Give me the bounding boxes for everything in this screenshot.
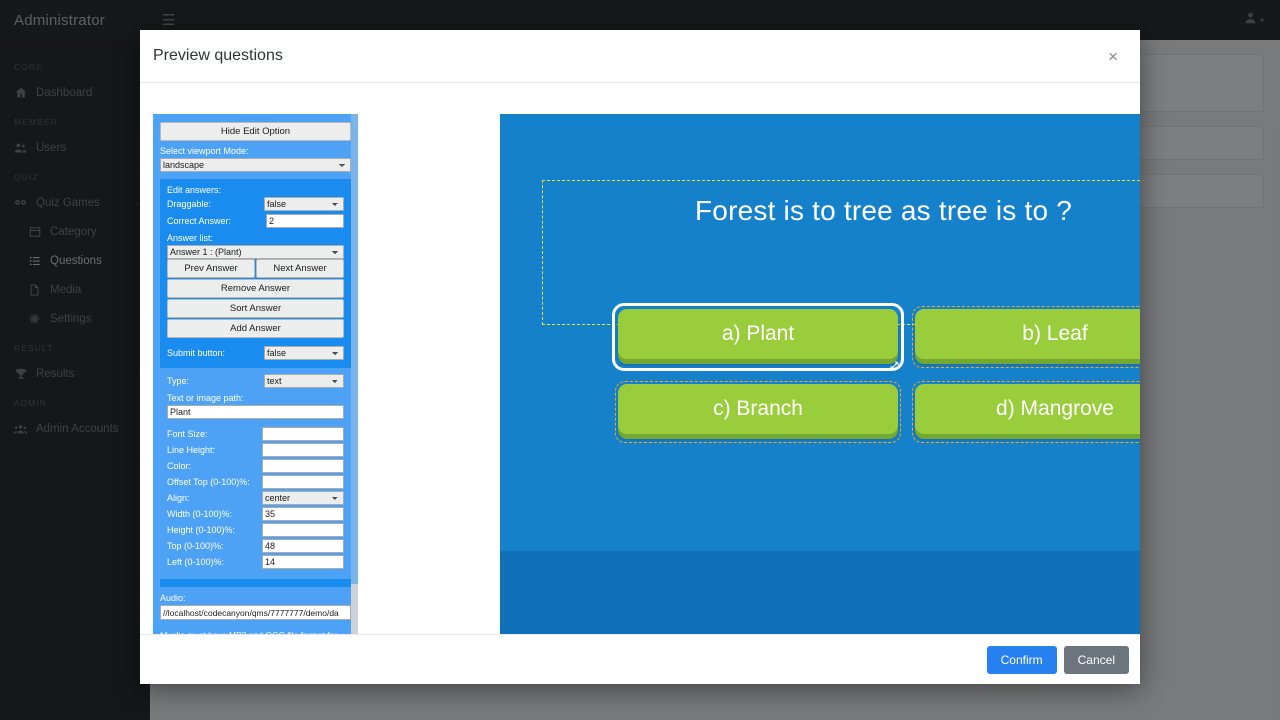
- resize-handle-icon[interactable]: [890, 361, 899, 370]
- correct-answer-label: Correct Answer:: [167, 216, 231, 226]
- type-label: Type:: [167, 376, 189, 386]
- answer-option-label: a) Plant: [722, 322, 794, 346]
- preview-questions-modal: Preview questions × Hide Edit Option Sel…: [140, 30, 1140, 684]
- attribute-label: Left (0-100)%:: [167, 557, 224, 567]
- answer-option[interactable]: d) Mangrove: [915, 384, 1140, 434]
- align-input[interactable]: center: [262, 491, 344, 505]
- cancel-button[interactable]: Cancel: [1064, 646, 1129, 674]
- left-0-100-input[interactable]: [262, 555, 344, 569]
- attribute-label: Width (0-100)%:: [167, 509, 232, 519]
- edit-panel: Hide Edit Option Select viewport Mode: l…: [153, 114, 358, 634]
- attribute-label: Color:: [167, 461, 191, 471]
- confirm-button[interactable]: Confirm: [987, 646, 1057, 674]
- draggable-label: Draggable:: [167, 199, 211, 209]
- correct-answer-row: Correct Answer:: [167, 214, 344, 228]
- prev-answer-button[interactable]: Prev Answer: [167, 259, 255, 278]
- answer-nav-row: Prev Answer Next Answer: [167, 259, 344, 278]
- audio-format-note: *Audio must have MP3 and OGG file format…: [160, 629, 351, 634]
- attribute-row: Top (0-100)%:: [167, 539, 344, 553]
- answer-list-select[interactable]: Answer 1 : (Plant): [167, 245, 344, 259]
- submit-button-row: Submit button: false: [167, 346, 344, 360]
- type-select[interactable]: text: [264, 374, 344, 388]
- draggable-select[interactable]: false: [264, 197, 344, 211]
- answer-list-label: Answer list:: [167, 233, 344, 243]
- audio-label: Audio:: [160, 593, 351, 603]
- attribute-row: Width (0-100)%:: [167, 507, 344, 521]
- attribute-row: Align:center: [167, 491, 344, 505]
- viewport-mode-label: Select viewport Mode:: [160, 146, 351, 156]
- stage-lower-band: [500, 551, 1140, 634]
- attribute-label: Font Size:: [167, 429, 208, 439]
- answer-option[interactable]: a) Plant: [618, 309, 898, 359]
- attribute-list: Font Size:Line Height:Color:Offset Top (…: [167, 427, 344, 569]
- answer-option-label: b) Leaf: [1022, 322, 1087, 346]
- color-input[interactable]: [262, 459, 344, 473]
- viewport-mode-select[interactable]: landscape: [160, 158, 351, 172]
- offset-top-0-100-input[interactable]: [262, 475, 344, 489]
- text-or-image-path-label: Text or image path:: [167, 393, 344, 403]
- type-row: Type: text: [167, 374, 344, 388]
- attribute-label: Height (0-100)%:: [167, 525, 235, 535]
- attribute-label: Offset Top (0-100)%:: [167, 477, 250, 487]
- edit-answers-group: Edit answers: Draggable: false Correct A…: [160, 179, 351, 587]
- answer-option-label: c) Branch: [713, 397, 803, 421]
- attribute-row: Color:: [167, 459, 344, 473]
- width-0-100-input[interactable]: [262, 507, 344, 521]
- hide-edit-option-button[interactable]: Hide Edit Option: [160, 122, 351, 141]
- question-text-region[interactable]: Forest is to tree as tree is to ?: [542, 180, 1140, 325]
- font-size-input[interactable]: [262, 427, 344, 441]
- attribute-row: Font Size:: [167, 427, 344, 441]
- attribute-label: Line Height:: [167, 445, 215, 455]
- close-icon[interactable]: ×: [1102, 44, 1124, 69]
- answer-type-group: Type: text Text or image path: Font Size…: [160, 368, 351, 579]
- modal-body: Hide Edit Option Select viewport Mode: l…: [140, 83, 1140, 634]
- page-title: Preview questions: [153, 47, 1102, 65]
- add-answer-button[interactable]: Add Answer: [167, 319, 344, 338]
- attribute-row: Height (0-100)%:: [167, 523, 344, 537]
- draggable-row: Draggable: false: [167, 197, 344, 211]
- attribute-row: Left (0-100)%:: [167, 555, 344, 569]
- attribute-label: Top (0-100)%:: [167, 541, 224, 551]
- top-0-100-input[interactable]: [262, 539, 344, 553]
- height-0-100-input[interactable]: [262, 523, 344, 537]
- sort-answer-button[interactable]: Sort Answer: [167, 299, 344, 318]
- attribute-row: Offset Top (0-100)%:: [167, 475, 344, 489]
- answer-option-label: d) Mangrove: [996, 397, 1114, 421]
- text-or-image-path-input[interactable]: [167, 405, 344, 419]
- attribute-row: Line Height:: [167, 443, 344, 457]
- submit-button-label: Submit button:: [167, 348, 225, 358]
- line-height-input[interactable]: [262, 443, 344, 457]
- attribute-label: Align:: [167, 493, 190, 503]
- next-answer-button[interactable]: Next Answer: [256, 259, 344, 278]
- correct-answer-input[interactable]: [266, 214, 344, 228]
- answer-option[interactable]: c) Branch: [618, 384, 898, 434]
- edit-panel-scrollbar-thumb[interactable]: [351, 114, 358, 584]
- remove-answer-button[interactable]: Remove Answer: [167, 279, 344, 298]
- modal-header: Preview questions ×: [140, 30, 1140, 83]
- audio-path-input[interactable]: [160, 605, 351, 620]
- question-preview-stage: Forest is to tree as tree is to ? a) Pla…: [500, 114, 1140, 634]
- question-text: Forest is to tree as tree is to ?: [543, 195, 1140, 227]
- edit-answers-heading: Edit answers:: [167, 185, 344, 195]
- submit-button-select[interactable]: false: [264, 346, 344, 360]
- modal-footer: Confirm Cancel: [140, 634, 1140, 684]
- answer-option[interactable]: b) Leaf: [915, 309, 1140, 359]
